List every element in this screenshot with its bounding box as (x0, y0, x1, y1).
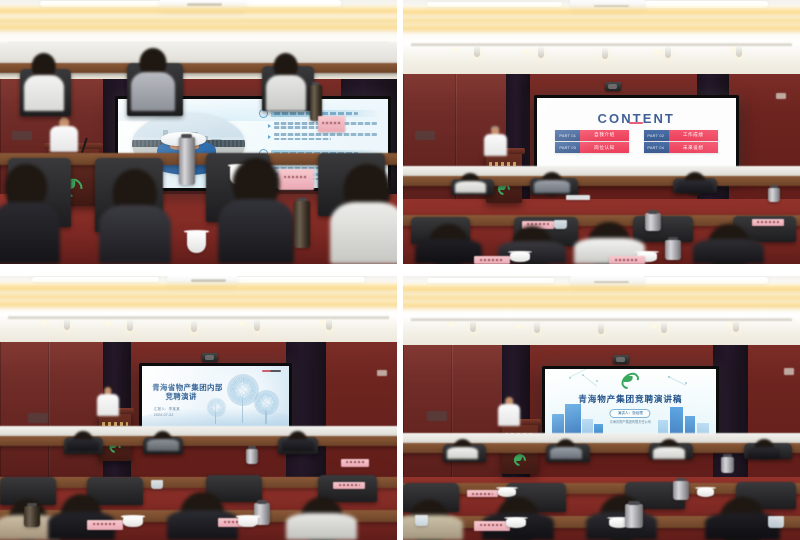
audience-person (455, 173, 487, 193)
person-torso (266, 75, 306, 111)
ceiling-coffer (230, 277, 365, 283)
slide-presenter: 演讲人：张经理 (610, 409, 651, 418)
downlight (653, 49, 662, 54)
slide-title: 青海物产集团竞聘演讲稿 (545, 393, 716, 405)
agenda-part-label: PART 02 (648, 133, 665, 138)
person-torso (550, 447, 582, 460)
ceiling-coffer (32, 277, 159, 282)
agenda-label-chip: 岗位认知 (580, 142, 629, 153)
agenda-label: 岗位认知 (594, 145, 615, 151)
agenda-item: PART 03 岗位认知 (555, 142, 629, 153)
air-vent (594, 5, 630, 8)
water-glass (768, 516, 784, 528)
cove-light (403, 8, 800, 15)
audience-person (677, 172, 713, 193)
downlight (40, 320, 49, 325)
teacup (506, 519, 526, 529)
water-glass (151, 480, 163, 489)
agenda-part-chip: PART 04 (644, 142, 669, 153)
conference-room-scene: CONTENT PART 01 自我介绍 (403, 0, 800, 264)
conference-room-scene: 青海省物产集团内部 竞聘演讲 汇报人：李某某 2024-07-02 (0, 276, 397, 540)
name-card (87, 520, 123, 530)
cove-light (0, 294, 397, 299)
agenda-label: 自我介绍 (594, 132, 615, 138)
teacup (697, 489, 714, 497)
downlight (514, 324, 523, 329)
agenda-label-chip: 工作成绩 (669, 130, 718, 141)
agenda-item: PART 04 未来设想 (644, 142, 718, 153)
slide-subtitle-presenter: 汇报人：李某某 (154, 407, 180, 412)
conference-room-scene: 青海物产集团竞聘演讲稿 演讲人：张经理 青海省物产集团有限责任公司 (403, 276, 800, 540)
person-torso (447, 447, 479, 460)
thermos-flask (179, 137, 195, 185)
exit-sign (377, 370, 387, 377)
person-torso (677, 180, 713, 193)
title-underline (629, 122, 643, 124)
track-spotlight (254, 320, 260, 331)
teacup (238, 517, 258, 527)
person-torso (67, 439, 99, 452)
thermos-flask (246, 449, 258, 464)
agenda-label-chip: 自我介绍 (580, 130, 629, 141)
name-card (341, 459, 369, 467)
collage-panel-top-right: CONTENT PART 01 自我介绍 (403, 0, 800, 264)
track-spotlight (534, 322, 540, 333)
ceiling (403, 276, 800, 347)
downlight (447, 322, 456, 327)
ceiling-coffer (427, 2, 562, 7)
track-spotlight (733, 321, 739, 332)
person-torso (286, 513, 357, 540)
agenda-part-label: PART 03 (559, 145, 576, 150)
collage-panel-bottom-right: 青海物产集团竞聘演讲稿 演讲人：张经理 青海省物产集团有限责任公司 (403, 276, 800, 540)
cove-light (403, 285, 800, 292)
audience-person (693, 224, 764, 264)
speaker-person (484, 127, 506, 156)
track-spotlight (470, 321, 476, 332)
teacup (498, 489, 515, 497)
ceiling-coffer (427, 278, 554, 283)
agenda-item: PART 02 工作成绩 (644, 130, 718, 141)
person-torso (282, 439, 314, 452)
track-spotlight (474, 46, 480, 57)
agenda-part-chip: PART 02 (644, 130, 669, 141)
audience-person (0, 164, 60, 264)
ceiling (0, 276, 397, 345)
agenda-grid: PART 01 自我介绍 PART 02 (555, 130, 718, 152)
thermos-flask (645, 213, 661, 231)
audience-person (218, 158, 293, 264)
cove-light (403, 25, 800, 31)
track-spotlight (326, 319, 332, 330)
person-torso (693, 239, 764, 264)
ceiling-coffer (625, 277, 768, 283)
speaker-person (97, 387, 118, 416)
exit-sign (784, 368, 794, 375)
audience-person (67, 431, 99, 451)
audience-person (550, 439, 582, 459)
name-card (474, 256, 510, 264)
person-torso (415, 239, 482, 264)
track-spotlight (127, 320, 133, 331)
cove-light (0, 301, 397, 307)
conference-room-scene (0, 0, 397, 264)
agenda-label: 未来设想 (683, 145, 704, 151)
ceiling-projector (613, 355, 629, 364)
audience-person (282, 431, 314, 451)
cove-light (403, 302, 800, 308)
audience-area (403, 421, 800, 540)
track-spotlight (602, 48, 608, 59)
name-card (474, 521, 510, 531)
audience-person (131, 48, 175, 111)
agenda-part-label: PART 01 (559, 133, 576, 138)
track-spotlight (64, 319, 70, 330)
audience-person (403, 500, 463, 540)
person-torso (131, 72, 175, 111)
downlight (238, 321, 247, 326)
conference-table (0, 436, 397, 446)
agenda-part-chip: PART 01 (555, 130, 580, 141)
person-torso (534, 180, 570, 193)
audience-person (447, 439, 479, 459)
ceiling-projector (605, 82, 621, 91)
track-spotlight (661, 322, 667, 333)
ceiling-coffer (625, 1, 768, 8)
track-spotlight (598, 323, 604, 334)
collage-panel-top-left (0, 0, 397, 264)
audience-person (330, 164, 398, 264)
water-glass (415, 515, 428, 526)
audience-person (653, 439, 685, 459)
audience-area (0, 413, 397, 540)
track-spotlight (665, 47, 671, 58)
person-torso (0, 202, 60, 264)
slide-title-line-2: 竞聘演讲 (165, 391, 196, 402)
wall-plate (427, 411, 447, 421)
agenda-part-label: PART 04 (648, 145, 665, 150)
cove-light (403, 18, 800, 23)
ceiling (403, 0, 800, 77)
agenda-item: PART 01 自我介绍 (555, 130, 629, 141)
laptop (566, 195, 590, 199)
track-spotlight (191, 321, 197, 332)
audience-person (24, 53, 64, 111)
ceiling-projector (202, 353, 218, 362)
collage-panel-bottom-left: 青海省物产集团内部 竞聘演讲 汇报人：李某某 2024-07-02 (0, 276, 397, 540)
person-torso (218, 199, 293, 264)
air-vent (191, 279, 227, 281)
person-torso (147, 439, 179, 452)
audience-person (266, 53, 306, 111)
agenda-label: 工作成绩 (683, 132, 704, 138)
track-spotlight (736, 46, 742, 57)
person-torso (748, 447, 780, 460)
audience-person (99, 169, 170, 264)
teacup (187, 232, 207, 253)
audience-person (147, 431, 179, 451)
ceiling-rail (411, 43, 792, 46)
audience-person (48, 494, 115, 540)
teacup (510, 253, 530, 262)
person-torso (330, 202, 398, 264)
teacup (123, 517, 143, 527)
person-torso (653, 447, 685, 460)
company-logo-icon (621, 374, 640, 388)
photo-collage: CONTENT PART 01 自我介绍 (0, 0, 800, 540)
thermos-flask (24, 506, 40, 528)
downlight (451, 47, 460, 52)
track-spotlight (538, 47, 544, 58)
wall-plate (415, 131, 435, 141)
cove-light (0, 284, 397, 291)
audience-person (286, 497, 357, 540)
name-card (609, 256, 645, 264)
downlight (103, 321, 112, 326)
name-card (318, 116, 346, 132)
audience-area (403, 153, 800, 264)
downlight (649, 324, 658, 329)
person-torso (99, 205, 170, 264)
agenda-label-chip: 未来设想 (669, 142, 718, 153)
exit-sign (776, 93, 786, 99)
thermos-flask (294, 201, 310, 249)
agenda-part-chip: PART 03 (555, 142, 580, 153)
downlight (522, 49, 531, 54)
person-torso (455, 181, 487, 193)
person-torso (403, 515, 463, 540)
audience-person (534, 172, 570, 193)
thermos-flask (768, 188, 780, 202)
slide-logo-bar (262, 370, 281, 372)
thermos-flask (721, 457, 734, 474)
thermos-flask (665, 240, 681, 260)
audience-area (0, 0, 397, 264)
person-torso (24, 75, 64, 111)
cove-light (403, 295, 800, 300)
audience-person (167, 492, 238, 540)
audience-person (748, 439, 780, 459)
thermos-flask (625, 504, 642, 528)
name-card (333, 482, 365, 490)
audience-person (415, 224, 482, 264)
name-card (467, 490, 499, 497)
thermos-flask (673, 481, 689, 500)
